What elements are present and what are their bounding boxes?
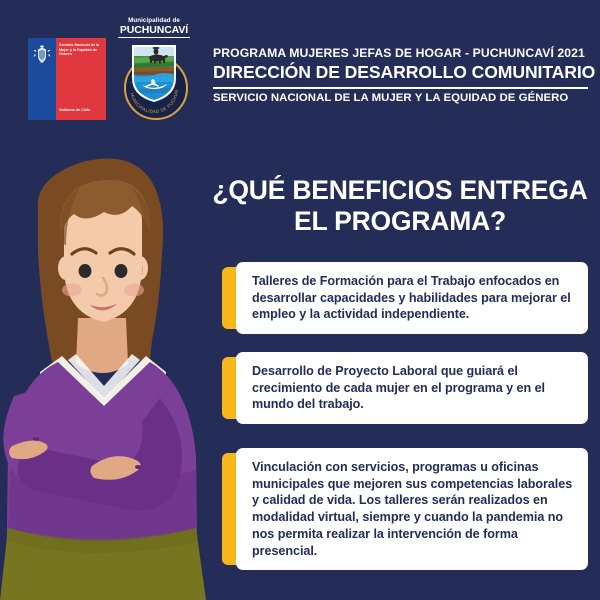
- header-divider: [213, 87, 588, 89]
- puchuncavi-coat-of-arms-icon: [132, 44, 176, 102]
- page-title-line-1: ¿QUÉ BENEFICIOS ENTREGA: [205, 175, 595, 206]
- benefit-card: Vinculación con servicios, programas u o…: [222, 448, 588, 570]
- benefit-card-text: Vinculación con servicios, programas u o…: [252, 459, 575, 559]
- cheek-left: [62, 284, 82, 297]
- page-title: ¿QUÉ BENEFICIOS ENTREGA EL PROGRAMA?: [205, 175, 595, 238]
- municipalidad-puchuncavi-logo: Municipalidad de PUCHUNCAVÍ MUNICIPALIDA…: [112, 18, 196, 128]
- poster-root: Servicio Nacional de la Mujer y la Equid…: [0, 0, 600, 600]
- puchuncavi-crest: MUNICIPALIDAD DE PUCHUNCAVI: [124, 44, 184, 122]
- sleeve-detail-right: [135, 465, 141, 469]
- page-title-line-2: EL PROGRAMA?: [205, 206, 595, 237]
- municipalidad-wordmark: Municipalidad de PUCHUNCAVÍ: [112, 18, 196, 38]
- sleeve-detail-left: [33, 437, 39, 441]
- sernameg-logo: Servicio Nacional de la Mujer y la Equid…: [28, 38, 106, 120]
- benefit-card-body: Talleres de Formación para el Trabajo en…: [236, 262, 588, 334]
- benefit-card-text: Desarrollo de Proyecto Laboral que guiar…: [252, 363, 575, 413]
- benefit-card-body: Vinculación con servicios, programas u o…: [236, 448, 588, 570]
- poster-header: Servicio Nacional de la Mujer y la Equid…: [0, 0, 600, 140]
- puchuncavi-label: PUCHUNCAVÍ: [118, 25, 190, 38]
- header-program-line: PROGRAMA MUJERES JEFAS DE HOGAR - PUCHUN…: [213, 46, 588, 61]
- flag-red-block: Servicio Nacional de la Mujer y la Equid…: [56, 38, 106, 120]
- header-direction-line: DIRECCIÓN DE DESARROLLO COMUNITARIO: [213, 62, 588, 83]
- benefit-card-body: Desarrollo de Proyecto Laboral que guiar…: [236, 352, 588, 424]
- benefit-card-text: Talleres de Formación para el Trabajo en…: [252, 273, 575, 323]
- woman-with-crossed-arms-illustration: [0, 150, 230, 600]
- sernameg-institution-label: Servicio Nacional de la Mujer y la Equid…: [59, 43, 104, 57]
- cheek-right: [124, 284, 144, 297]
- eye-right: [115, 264, 128, 278]
- gobierno-de-chile-label: Gobierno de Chile: [59, 108, 104, 112]
- header-title-block: PROGRAMA MUJERES JEFAS DE HOGAR - PUCHUN…: [213, 46, 588, 105]
- benefit-card: Talleres de Formación para el Trabajo en…: [222, 262, 588, 334]
- header-service-line: SERVICIO NACIONAL DE LA MUJER Y LA EQUID…: [213, 92, 588, 106]
- benefit-card: Desarrollo de Proyecto Laboral que guiar…: [222, 352, 588, 424]
- eye-left: [79, 264, 92, 278]
- flag-blue-block: [28, 38, 56, 120]
- chile-coat-of-arms-icon: [32, 45, 52, 65]
